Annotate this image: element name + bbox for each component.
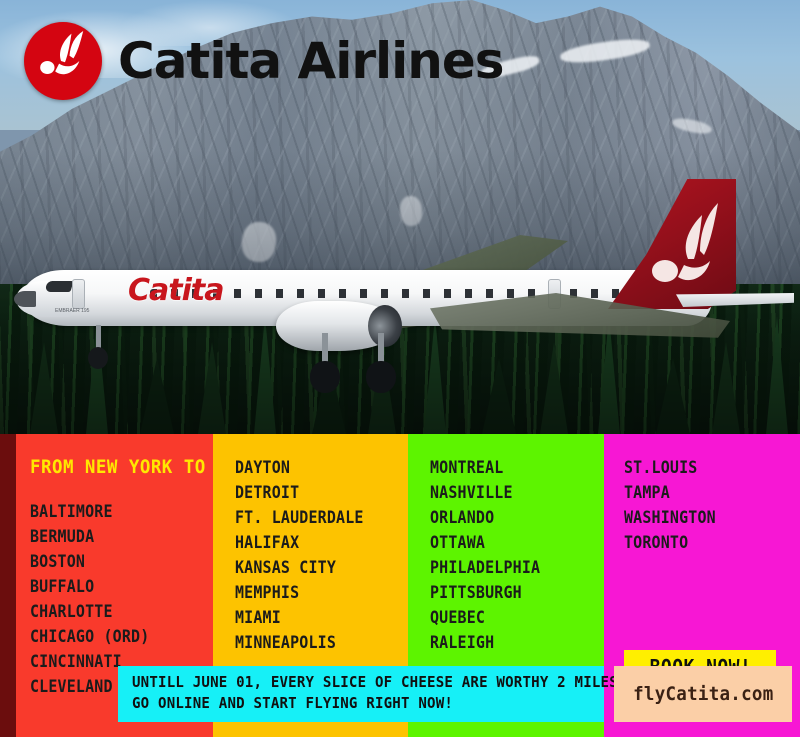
destination-item[interactable]: BALTIMORE (30, 500, 191, 525)
destination-item[interactable]: FT. LAUDERDALE (235, 506, 387, 531)
destination-item[interactable]: RALEIGH (430, 631, 583, 656)
destination-item[interactable]: MEMPHIS (235, 581, 387, 606)
airplane-graphic: Catita EMBRAER 195 (0, 175, 800, 400)
fuselage-livery-text: Catita (128, 273, 223, 308)
destination-item[interactable]: PITTSBURGH (430, 581, 583, 606)
destination-item[interactable]: BUFFALO (30, 575, 191, 600)
destination-item[interactable]: PHILADELPHIA (430, 556, 583, 581)
airline-poster: Catita EMBRAER 195 (0, 0, 800, 737)
destination-item[interactable]: CHICAGO (ORD) (30, 625, 191, 650)
promo-banner: UNTILL JUNE 01, EVERY SLICE OF CHEESE AR… (118, 666, 604, 722)
destination-item[interactable]: HALIFAX (235, 531, 387, 556)
destination-item[interactable]: OTTAWA (430, 531, 583, 556)
destination-item[interactable]: NASHVILLE (430, 481, 583, 506)
destination-item[interactable]: DETROIT (235, 481, 387, 506)
website-box[interactable]: flyCatita.com (614, 666, 792, 722)
destination-item[interactable]: MONTREAL (430, 456, 583, 481)
destination-item[interactable]: BERMUDA (30, 525, 191, 550)
destinations-header: FROM NEW YORK TO (30, 456, 198, 478)
main-gear-wheel (310, 361, 340, 393)
promo-line-2: GO ONLINE AND START FLYING RIGHT NOW! (132, 693, 576, 714)
destination-item[interactable]: MINNEAPOLIS (235, 631, 387, 656)
horizontal-stabilizer (676, 293, 794, 307)
cockpit-window (44, 281, 73, 292)
left-edge-strip (0, 434, 16, 737)
destination-item[interactable]: CHARLOTTE (30, 600, 191, 625)
destination-item[interactable]: TAMPA (624, 481, 779, 506)
destination-item[interactable]: WASHINGTON (624, 506, 779, 531)
engine-intake (368, 305, 402, 347)
cabin-windows (150, 289, 670, 298)
tail-bird-logo-icon (648, 199, 722, 291)
destination-item[interactable]: DAYTON (235, 456, 387, 481)
destination-item[interactable]: ORLANDO (430, 506, 583, 531)
destination-item[interactable]: TORONTO (624, 531, 779, 556)
destination-item[interactable]: QUEBEC (430, 606, 583, 631)
nose-tip (14, 291, 36, 307)
main-gear-wheel (366, 361, 396, 393)
destination-item[interactable]: BOSTON (30, 550, 191, 575)
promo-line-1: UNTILL JUNE 01, EVERY SLICE OF CHEESE AR… (132, 672, 576, 693)
brand-logo-badge (24, 22, 102, 100)
destination-item[interactable]: ST.LOUIS (624, 456, 779, 481)
website-url: flyCatita.com (633, 683, 773, 705)
brand-header: Catita Airlines (24, 22, 504, 100)
bird-logo-icon (33, 31, 93, 91)
destination-item[interactable]: KANSAS CITY (235, 556, 387, 581)
nose-gear-wheel (88, 347, 108, 369)
registration-text: EMBRAER 195 (55, 308, 89, 314)
cabin-door (72, 279, 85, 309)
page-title: Catita Airlines (118, 36, 504, 86)
destination-item[interactable]: MIAMI (235, 606, 387, 631)
